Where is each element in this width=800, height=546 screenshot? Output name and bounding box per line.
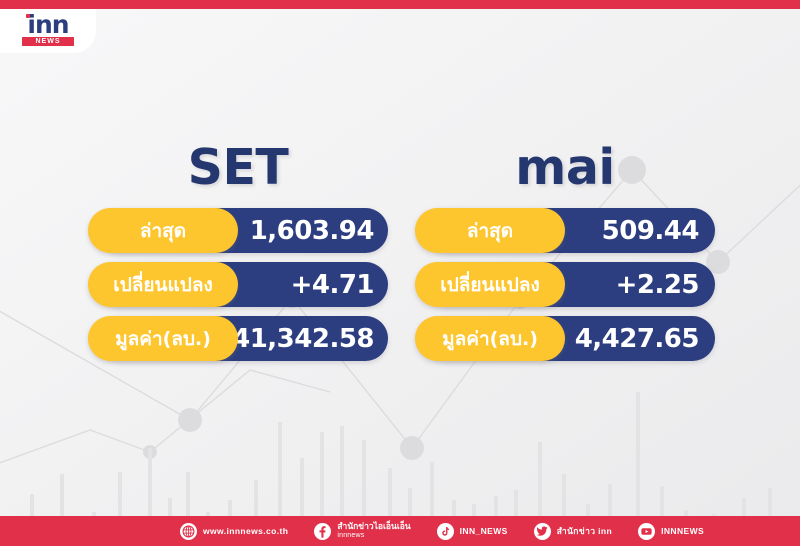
footer-twitter-label: สำนักข่าว inn (557, 526, 612, 536)
tiktok-icon (437, 523, 454, 540)
stat-label-pill: เปลี่ยนแปลง (88, 262, 238, 307)
stat-row-mai-change: +2.25 เปลี่ยนแปลง (415, 262, 715, 307)
stat-label-pill: มูลค่า(ลบ.) (415, 316, 565, 361)
stat-value: +2.25 (616, 270, 699, 300)
youtube-icon (638, 523, 655, 540)
stat-label: ล่าสุด (140, 216, 186, 246)
brand-logo-card: inn NEWS (0, 9, 96, 53)
footer-tiktok-label: INN_NEWS (460, 526, 508, 536)
footer-twitter[interactable]: สำนักข่าว inn (534, 523, 612, 540)
footer-youtube-label: INNNEWS (661, 526, 704, 536)
panel-mai-title: mai (415, 140, 715, 196)
stat-row-set-change: +4.71 เปลี่ยนแปลง (88, 262, 388, 307)
stat-label-pill: ล่าสุด (88, 208, 238, 253)
facebook-icon (314, 523, 331, 540)
footer-facebook-title: สำนักข่าวไอเอ็นเอ็น (337, 521, 410, 531)
stat-row-mai-last: 509.44 ล่าสุด (415, 208, 715, 253)
stat-label: เปลี่ยนแปลง (440, 270, 540, 300)
stat-row-mai-value: 4,427.65 มูลค่า(ลบ.) (415, 316, 715, 361)
board: SET 1,603.94 ล่าสุด +4.71 เปลี่ยนแปลง (0, 0, 800, 546)
stat-value: 1,603.94 (250, 216, 374, 246)
panel-set-rows: 1,603.94 ล่าสุด +4.71 เปลี่ยนแปลง (88, 208, 388, 361)
panel-set-title: SET (88, 140, 388, 196)
stat-row-set-last: 1,603.94 ล่าสุด (88, 208, 388, 253)
stat-label-pill: ล่าสุด (415, 208, 565, 253)
logo-wrap: inn NEWS (22, 14, 74, 48)
twitter-icon (534, 523, 551, 540)
infographic-canvas: inn NEWS SET 1,603.94 ล่าสุด +4.71 (0, 0, 800, 546)
footer-facebook-label: สำนักข่าวไอเอ็นเอ็น innnews (337, 521, 410, 541)
stat-label-pill: มูลค่า(ลบ.) (88, 316, 238, 361)
stat-value: 509.44 (602, 216, 699, 246)
logo-tagline: NEWS (22, 37, 74, 46)
social-footer: www.innnews.co.th สำนักข่าวไอเอ็นเอ็น in… (0, 516, 800, 546)
footer-tiktok[interactable]: INN_NEWS (437, 523, 508, 540)
stat-value: +4.71 (291, 270, 374, 300)
footer-youtube[interactable]: INNNEWS (638, 523, 704, 540)
panel-mai: mai 509.44 ล่าสุด +2.25 เปลี่ยนแปลง (415, 140, 715, 361)
red-dot-icon (26, 14, 30, 18)
stat-label: เปลี่ยนแปลง (113, 270, 213, 300)
stat-value: 41,342.58 (232, 324, 374, 354)
globe-icon (180, 523, 197, 540)
footer-website[interactable]: www.innnews.co.th (180, 523, 288, 540)
panel-mai-rows: 509.44 ล่าสุด +2.25 เปลี่ยนแปลง (415, 208, 715, 361)
stat-label: มูลค่า(ลบ.) (115, 324, 211, 354)
footer-facebook-handle: innnews (337, 531, 410, 541)
stat-label: มูลค่า(ลบ.) (442, 324, 538, 354)
stat-label-pill: เปลี่ยนแปลง (415, 262, 565, 307)
stat-value: 4,427.65 (575, 324, 699, 354)
stat-row-set-value: 41,342.58 มูลค่า(ลบ.) (88, 316, 388, 361)
top-accent-bar (0, 0, 800, 9)
footer-website-label: www.innnews.co.th (203, 526, 288, 536)
stat-label: ล่าสุด (467, 216, 513, 246)
footer-facebook[interactable]: สำนักข่าวไอเอ็นเอ็น innnews (314, 521, 410, 541)
panel-set: SET 1,603.94 ล่าสุด +4.71 เปลี่ยนแปลง (88, 140, 388, 361)
